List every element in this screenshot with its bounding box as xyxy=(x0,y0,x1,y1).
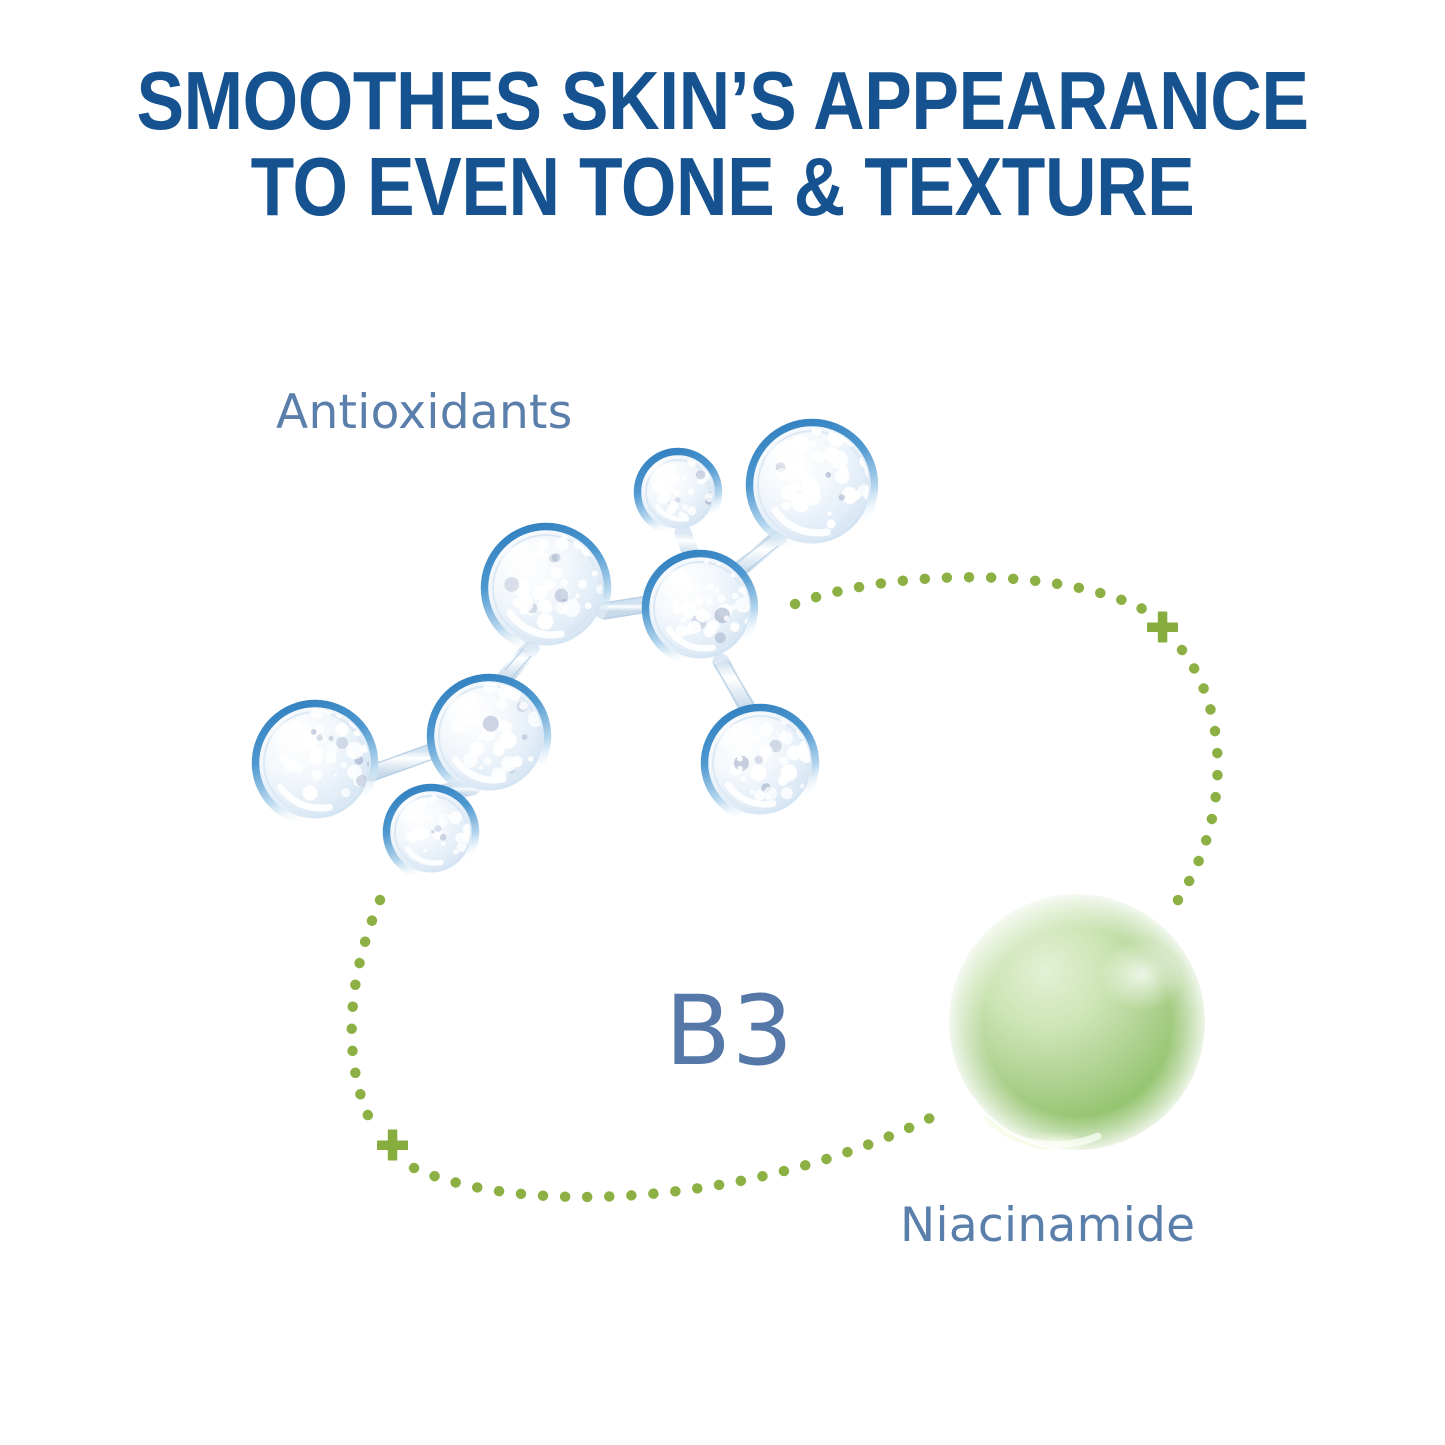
bubble-mid-upper xyxy=(485,527,608,650)
bubble-right-lower xyxy=(705,708,816,819)
bubble-left xyxy=(256,704,375,823)
niacinamide-sphere xyxy=(947,892,1207,1152)
plus-icon-bottom xyxy=(377,1130,408,1161)
infographic-canvas: SMOOTHES SKIN’S APPEARANCE TO EVEN TONE … xyxy=(0,0,1445,1445)
bond-center-to-rightlower xyxy=(721,662,747,707)
connector-upper-left xyxy=(795,577,1150,613)
bond-midlower-to-midupper xyxy=(505,648,531,678)
niacinamide-label: Niacinamide xyxy=(900,1198,1195,1253)
antioxidants-label: Antioxidants xyxy=(276,385,573,440)
bond-midupper-to-center xyxy=(604,604,648,611)
bubble-top-small xyxy=(638,452,719,533)
antioxidant-molecule xyxy=(256,423,882,877)
bubble-center xyxy=(646,554,759,663)
plus-icon-top xyxy=(1147,612,1178,643)
connector-lower-left xyxy=(352,900,380,1126)
bubble-mid-lower xyxy=(431,678,548,795)
ingredient-diagram xyxy=(0,0,1445,1445)
connector-lower-right xyxy=(414,1110,946,1197)
bubble-top-large xyxy=(750,423,882,548)
connector-upper-right xyxy=(1176,650,1218,903)
bond-center-to-toplarge xyxy=(737,538,778,571)
bubble-lower-small xyxy=(387,788,476,877)
